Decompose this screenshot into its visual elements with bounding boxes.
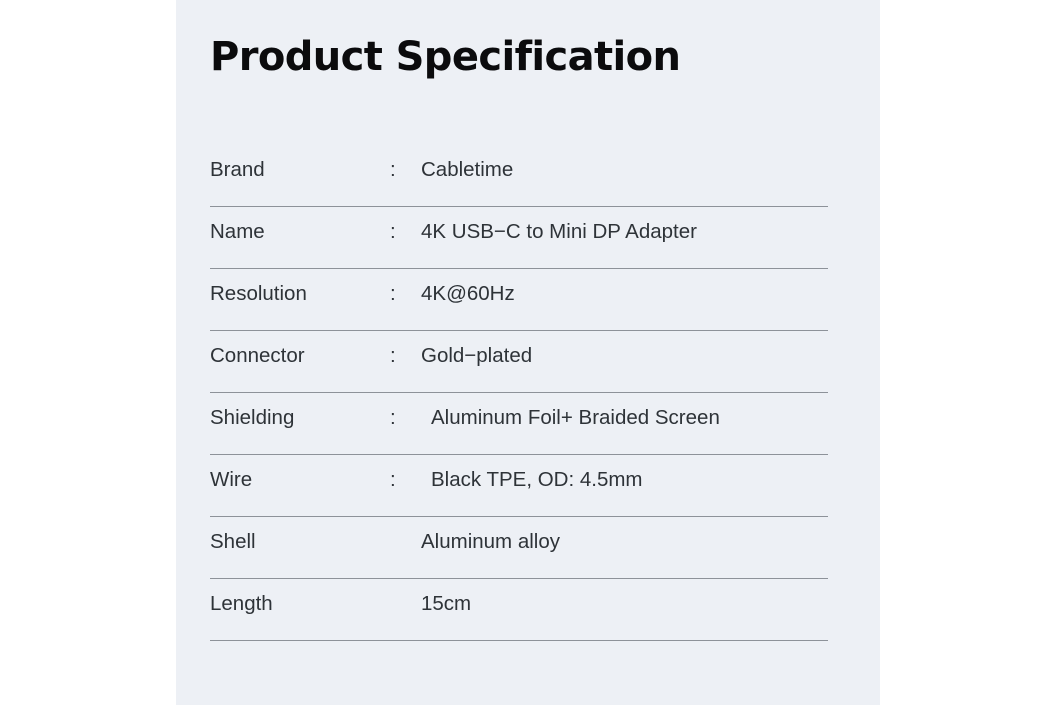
spec-label-resolution: Resolution [210,281,390,307]
table-row: Shell Aluminum alloy [210,517,828,579]
spec-label-name: Name [210,219,390,245]
specification-panel: Product Specification Brand : Cabletime … [176,0,880,705]
spec-value-shell: Aluminum alloy [421,529,828,555]
spec-separator: : [390,219,421,245]
specification-table: Brand : Cabletime Name : 4K USB−C to Min… [210,145,828,641]
table-row: Length 15cm [210,579,828,641]
spec-separator: : [390,281,421,307]
spec-value-length: 15cm [421,591,828,617]
spec-value-shielding: Aluminum Foil+ Braided Screen [421,405,828,431]
table-row: Brand : Cabletime [210,145,828,207]
spec-separator: : [390,343,421,369]
spec-label-length: Length [210,591,390,617]
spec-value-name: 4K USB−C to Mini DP Adapter [421,219,828,245]
spec-separator: : [390,405,421,431]
table-row: Connector : Gold−plated [210,331,828,393]
spec-separator: : [390,467,421,493]
table-row: Shielding : Aluminum Foil+ Braided Scree… [210,393,828,455]
spec-label-shell: Shell [210,529,390,555]
spec-value-resolution: 4K@60Hz [421,281,828,307]
spec-separator: : [390,157,421,183]
table-row: Resolution : 4K@60Hz [210,269,828,331]
spec-label-connector: Connector [210,343,390,369]
table-row: Name : 4K USB−C to Mini DP Adapter [210,207,828,269]
table-row: Wire : Black TPE, OD: 4.5mm [210,455,828,517]
spec-value-wire: Black TPE, OD: 4.5mm [421,467,828,493]
spec-value-brand: Cabletime [421,157,828,183]
specification-page: Product Specification Brand : Cabletime … [0,0,1058,705]
spec-value-connector: Gold−plated [421,343,828,369]
spec-label-wire: Wire [210,467,390,493]
page-title: Product Specification [210,34,680,80]
spec-label-shielding: Shielding [210,405,390,431]
spec-label-brand: Brand [210,157,390,183]
